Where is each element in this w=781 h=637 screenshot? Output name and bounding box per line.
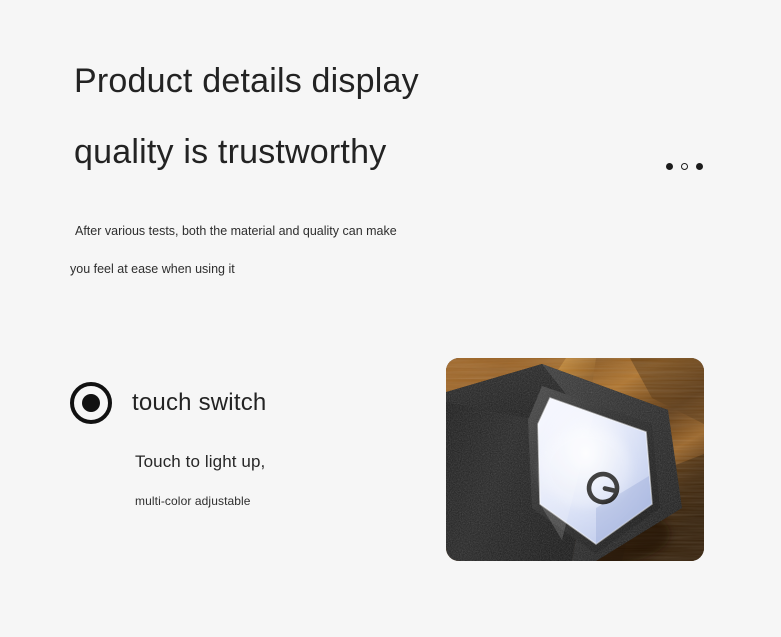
description-line-1: After various tests, both the material a… xyxy=(70,212,590,250)
description: After various tests, both the material a… xyxy=(70,212,590,288)
target-dot-icon-core xyxy=(82,394,100,412)
product-photo xyxy=(446,358,704,561)
page-title-line-2: quality is trustworthy xyxy=(74,117,634,188)
carousel-dot-1[interactable] xyxy=(666,163,673,170)
feature-header: touch switch xyxy=(70,380,410,426)
carousel-dot-2[interactable] xyxy=(681,163,688,170)
carousel-dot-3[interactable] xyxy=(696,163,703,170)
page-title: Product details display quality is trust… xyxy=(74,46,634,188)
product-details-page: Product details display quality is trust… xyxy=(0,0,781,637)
target-dot-icon xyxy=(70,382,112,424)
product-photo-illustration xyxy=(446,358,704,561)
feature-note: multi-color adjustable xyxy=(70,494,410,508)
feature-touch-switch: touch switch Touch to light up, multi-co… xyxy=(70,380,410,508)
description-line-2: you feel at ease when using it xyxy=(70,250,590,288)
carousel-dots[interactable] xyxy=(666,163,703,170)
feature-subtitle: Touch to light up, xyxy=(70,452,410,472)
page-title-line-1: Product details display xyxy=(74,46,634,117)
feature-title: touch switch xyxy=(132,389,266,417)
